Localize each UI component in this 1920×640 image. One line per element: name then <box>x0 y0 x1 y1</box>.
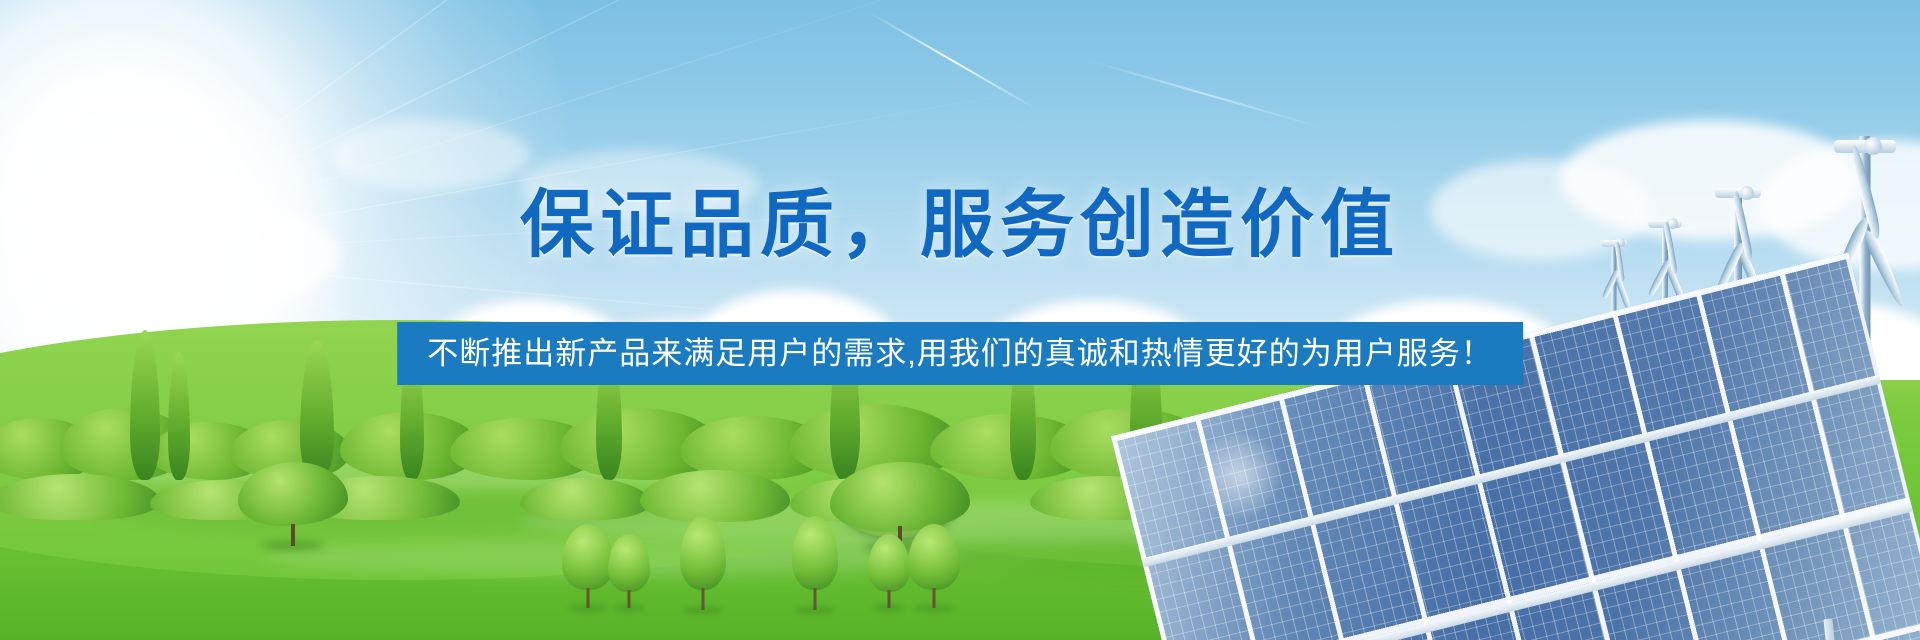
sapling-tree-icon <box>606 534 652 608</box>
sapling-tree-icon <box>678 516 728 610</box>
hero-banner: 保证品质，服务创造价值 不断推出新产品来满足用户的需求,用我们的真诚和热情更好的… <box>0 0 1920 640</box>
subtitle-bar: 不断推出新产品来满足用户的需求,用我们的真诚和热情更好的为用户服务！ <box>397 322 1523 385</box>
page-title: 保证品质，服务创造价值 <box>0 188 1920 262</box>
sapling-tree-icon <box>790 516 840 610</box>
sapling-tree-icon <box>906 524 962 608</box>
tree-icon <box>238 462 348 546</box>
bush-icon <box>0 474 160 520</box>
subtitle-text: 不断推出新产品来满足用户的需求,用我们的真诚和热情更好的为用户服务！ <box>427 338 1493 369</box>
bush-icon <box>520 478 650 520</box>
